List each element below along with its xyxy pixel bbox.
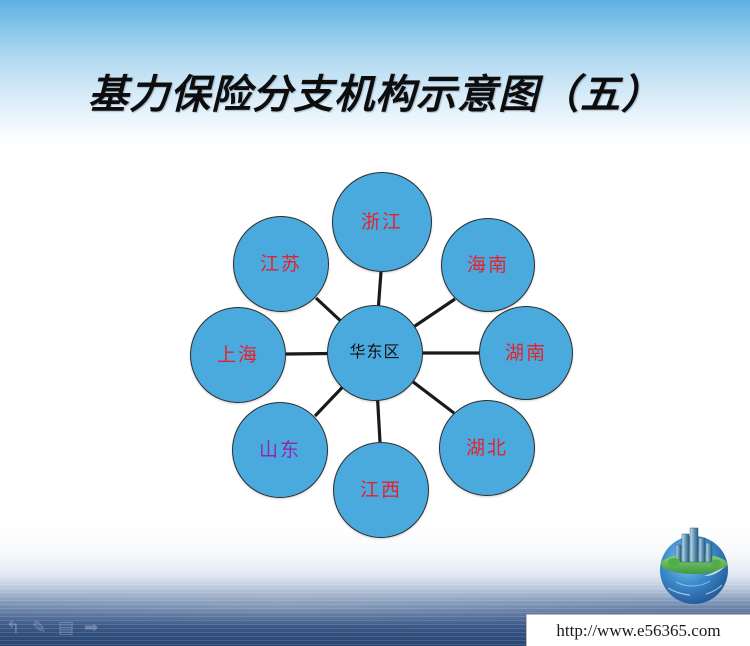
node-center-label: 华东区 [349, 345, 400, 361]
ghost-next-arrow-icon: ➡ [84, 620, 98, 637]
node-label-jiangsu: 江苏 [260, 255, 302, 274]
node-hubei[interactable]: 湖北 [439, 400, 535, 496]
node-huadong-center[interactable]: 华东区 [327, 305, 423, 401]
slide-canvas: ↰ ✎ ▤ ➡ 基力保险分支机构示意图（五） 华东区 浙江 海南 [0, 0, 750, 646]
node-shanghai[interactable]: 上海 [190, 307, 286, 403]
faded-toolbar-ghost-icons: ↰ ✎ ▤ ➡ [4, 616, 114, 644]
branch-structure-diagram: 华东区 浙江 海南 湖南 湖北 江西 山东 上海 江苏 [175, 165, 585, 535]
node-label-hubei: 湖北 [466, 439, 508, 458]
node-jiangsu[interactable]: 江苏 [233, 216, 329, 312]
node-jiangxi[interactable]: 江西 [333, 442, 429, 538]
url-text: http://www.e56365.com [556, 621, 720, 641]
node-label-shanghai: 上海 [217, 346, 259, 365]
node-hainan[interactable]: 海南 [441, 218, 535, 312]
node-shandong[interactable]: 山东 [232, 402, 328, 498]
slide-title: 基力保险分支机构示意图（五） [0, 62, 750, 120]
url-watermark-bar: http://www.e56365.com [526, 614, 750, 646]
node-zhejiang[interactable]: 浙江 [332, 172, 432, 272]
ghost-arrow-icon: ↰ [6, 620, 20, 637]
node-label-hunan: 湖南 [505, 344, 547, 363]
ghost-page-icon: ▤ [58, 620, 74, 637]
node-hunan[interactable]: 湖南 [479, 306, 573, 400]
node-label-shandong: 山东 [259, 441, 301, 460]
ghost-pencil-icon: ✎ [32, 620, 46, 637]
node-label-hainan: 海南 [467, 256, 509, 275]
node-label-zhejiang: 浙江 [361, 213, 403, 232]
node-label-jiangxi: 江西 [360, 481, 402, 500]
globe-city-logo [646, 512, 742, 608]
